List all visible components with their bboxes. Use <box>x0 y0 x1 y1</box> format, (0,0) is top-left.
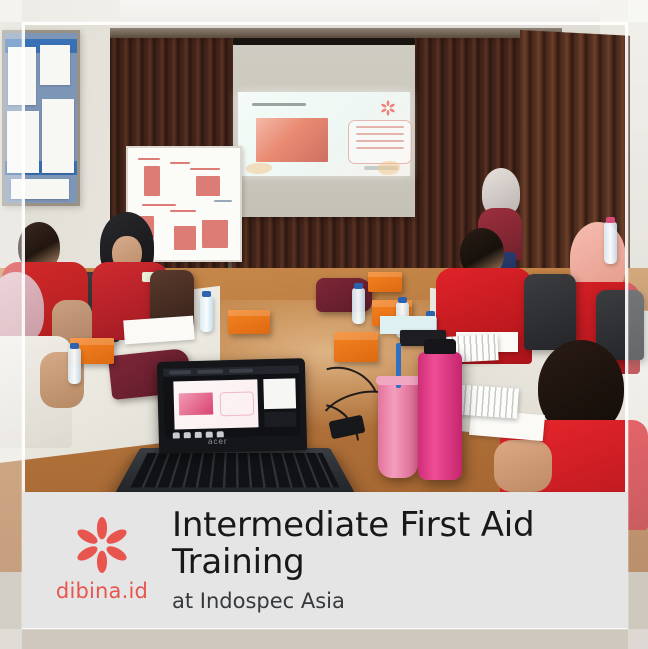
caption-title: Intermediate First Aid Training <box>172 507 628 579</box>
slide-logo-icon <box>380 100 396 116</box>
water-bottle-5 <box>68 348 81 384</box>
first-aid-box-5 <box>368 272 402 292</box>
first-aid-box-2 <box>228 310 270 334</box>
chair-right <box>524 274 576 350</box>
wall-cornice <box>110 28 562 38</box>
caption-text: Intermediate First Aid Training at Indos… <box>160 507 628 612</box>
screen-roller-bar <box>233 38 415 45</box>
projected-slide <box>238 92 410 176</box>
laptop-brand-label: acer <box>208 437 228 446</box>
notice-board <box>2 30 80 206</box>
brand-name: dibina.id <box>56 579 148 603</box>
first-aid-box-3 <box>334 332 378 362</box>
caption-bar: dibina.id Intermediate First Aid Trainin… <box>22 492 628 628</box>
laptop-screen <box>157 358 307 454</box>
tumbler-lid <box>376 376 420 385</box>
water-bottle-1 <box>200 296 213 332</box>
laptop-base <box>113 448 357 497</box>
asterisk-flower-icon <box>74 517 130 573</box>
laptop-keyboard <box>131 453 340 487</box>
brand-lockup[interactable]: dibina.id <box>22 517 160 603</box>
paper-stack-1 <box>123 316 195 345</box>
training-photo-card: acer <box>0 0 648 649</box>
water-bottle-2 <box>352 288 365 324</box>
magenta-water-bottle <box>418 352 462 480</box>
bottle-cap <box>424 339 456 354</box>
water-bottle-7 <box>604 222 617 264</box>
caption-subtitle: at Indospec Asia <box>172 589 628 613</box>
pink-tumbler <box>378 383 418 478</box>
